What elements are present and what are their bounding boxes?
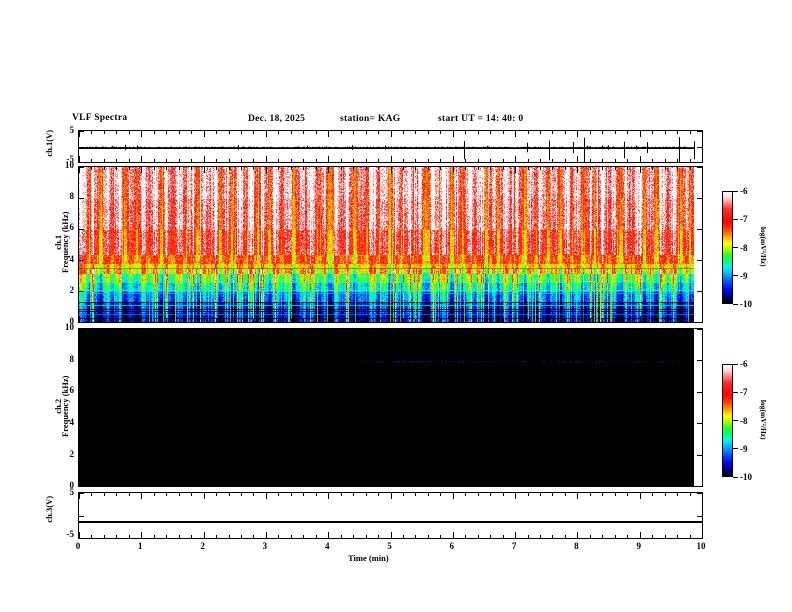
ytick-ch1-spec-4: 4: [58, 255, 74, 264]
colorbar-ch1-tickmark--7: [733, 219, 738, 220]
xtick-label-9: 9: [630, 542, 648, 551]
xtick-label-0: 0: [69, 542, 87, 551]
axis-label-ch1-volt: ch.1(V): [45, 110, 54, 176]
colorbar-ch2-ticklabel--9: -9: [740, 445, 748, 454]
ytick-ch3-wave-neg5: -5: [58, 530, 74, 539]
ytick-ch1-spec-2: 2: [58, 286, 74, 295]
colorbar-ch1-ticklabel--9: -9: [740, 272, 748, 281]
colorbar-ch2-tickmark--6: [733, 364, 738, 365]
panel-ch2-spectrogram: [78, 328, 703, 487]
colorbar-ch1-ticklabel--10: -10: [740, 300, 752, 309]
xtick-label-1: 1: [131, 542, 149, 551]
colorbar-ch1: [722, 191, 733, 304]
ytick-ch2-spec-10: 10: [58, 323, 74, 332]
colorbar-ch1-label: log(mV²/Hz): [759, 192, 767, 302]
xtick-label-10: 10: [692, 542, 710, 551]
colorbar-ch1-tickmark--10: [733, 304, 738, 305]
xtick-label-4: 4: [318, 542, 336, 551]
ytick-ch2-spec-8: 8: [58, 355, 74, 364]
colorbar-ch2-tickmark--9: [733, 448, 738, 449]
panel-ch1-waveform: [78, 130, 703, 163]
ytick-ch1-spec-10: 10: [58, 161, 74, 170]
colorbar-ch1-ticklabel--6: -6: [740, 187, 748, 196]
colorbar-ch2-tickmark--8: [733, 420, 738, 421]
ytick-ch2-spec-6: 6: [58, 386, 74, 395]
page-title: VLF Spectra: [72, 114, 127, 124]
panel-ch3-waveform: [78, 492, 703, 539]
colorbar-ch1-tickmark--9: [733, 275, 738, 276]
panel-ch1-spectrogram: [78, 166, 703, 323]
colorbar-ch1-tickmark--6: [733, 191, 738, 192]
colorbar-ch2: [722, 364, 733, 477]
colorbar-ch2-tickmark--10: [733, 477, 738, 478]
ytick-ch1-wave-5: 5: [62, 126, 74, 135]
colorbar-ch1-ticklabel--7: -7: [740, 215, 748, 224]
ytick-ch2-spec-4: 4: [58, 418, 74, 427]
x-axis-title: Time (min): [348, 554, 389, 563]
axis-label-ch3-volt: ch.3(V): [45, 474, 54, 544]
vlf-spectra-figure: VLF Spectra Dec. 18, 2025 station= KAG s…: [0, 0, 792, 612]
header-station: station= KAG: [340, 115, 400, 125]
colorbar-ch2-tickmark--7: [733, 392, 738, 393]
header-date: Dec. 18, 2025: [248, 115, 305, 125]
ytick-ch1-spec-6: 6: [58, 223, 74, 232]
colorbar-ch2-label: log(mV²/Hz): [759, 365, 767, 475]
colorbar-ch1-gradient: [723, 192, 732, 303]
header-start-ut: start UT = 14: 40: 0: [438, 115, 523, 125]
xtick-label-2: 2: [194, 542, 212, 551]
ytick-ch1-spec-8: 8: [58, 192, 74, 201]
xtick-label-8: 8: [567, 542, 585, 551]
colorbar-ch2-ticklabel--6: -6: [740, 360, 748, 369]
ytick-ch2-spec-2: 2: [58, 450, 74, 459]
colorbar-ch1-ticklabel--8: -8: [740, 244, 748, 253]
ytick-ch3-wave-5: 5: [62, 488, 74, 497]
colorbar-ch1-tickmark--8: [733, 247, 738, 248]
xtick-label-3: 3: [256, 542, 274, 551]
colorbar-ch2-ticklabel--10: -10: [740, 473, 752, 482]
xtick-label-6: 6: [443, 542, 461, 551]
colorbar-ch2-ticklabel--8: -8: [740, 417, 748, 426]
colorbar-ch2-gradient: [723, 365, 732, 476]
xtick-label-7: 7: [505, 542, 523, 551]
colorbar-ch2-ticklabel--7: -7: [740, 388, 748, 397]
xtick-label-5: 5: [381, 542, 399, 551]
